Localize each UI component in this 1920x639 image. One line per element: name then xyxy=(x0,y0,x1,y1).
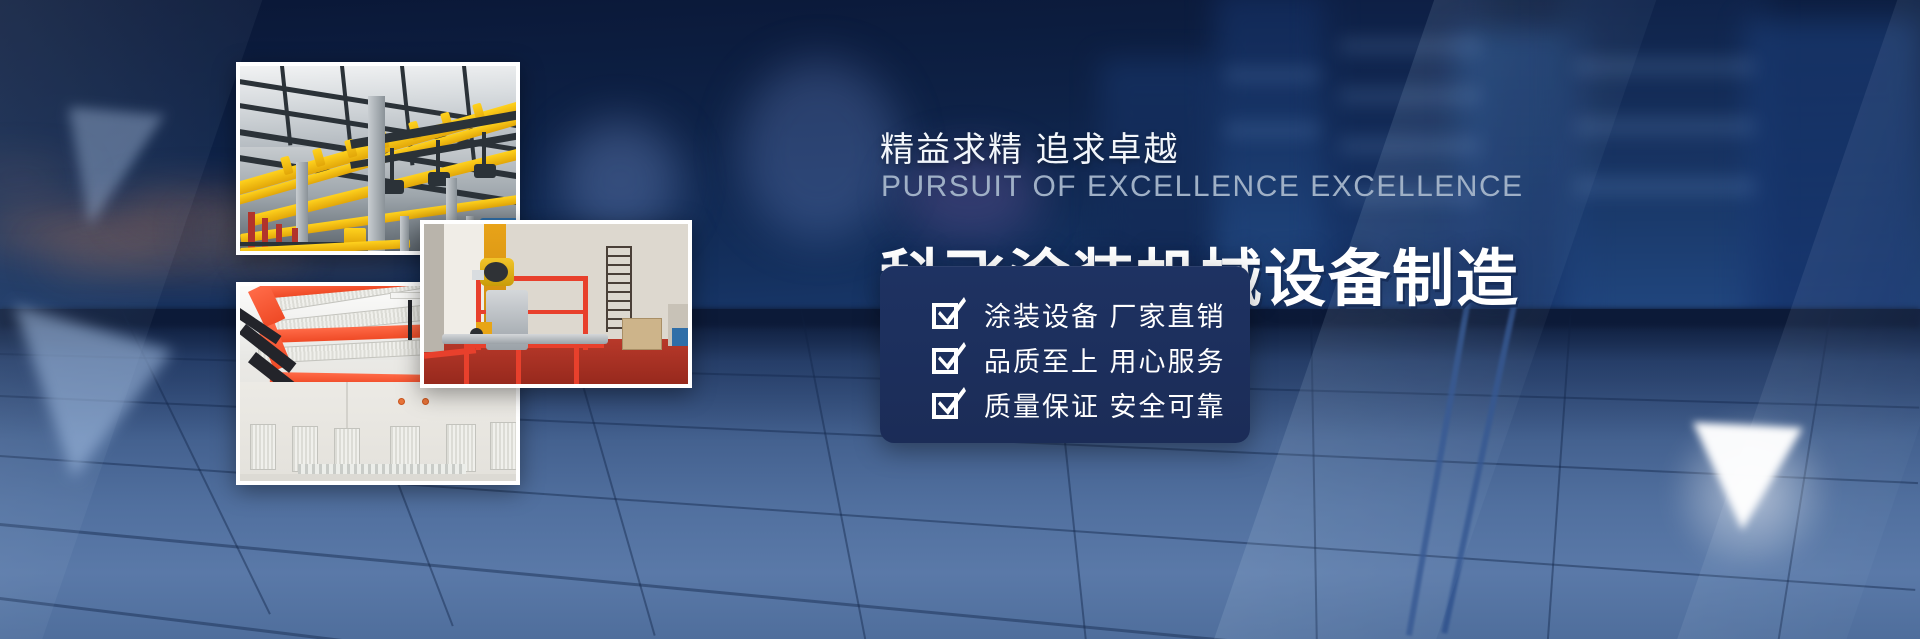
photo-lift-equipment xyxy=(420,220,692,388)
feature-item-2: 品质至上 用心服务 xyxy=(932,337,1226,382)
feature-item-3: 质量保证 安全可靠 xyxy=(932,382,1226,427)
feature-list-box: 涂装设备 厂家直销 品质至上 用心服务 xyxy=(880,266,1250,443)
tagline-chinese: 精益求精 追求卓越 xyxy=(880,122,1179,171)
checkbox-checked-icon xyxy=(932,344,964,376)
hero-banner: 精益求精 追求卓越 PURSUIT OF EXCELLENCE EXCELLEN… xyxy=(0,0,1920,639)
feature-label: 涂装设备 厂家直销 xyxy=(984,295,1226,334)
glow-triangle-lower-right xyxy=(1687,422,1802,533)
tagline-english: PURSUIT OF EXCELLENCE EXCELLENCE xyxy=(881,170,1524,204)
feature-item-1: 涂装设备 厂家直销 xyxy=(932,292,1226,337)
feature-label: 质量保证 安全可靠 xyxy=(984,385,1226,424)
checkbox-checked-icon xyxy=(932,299,964,331)
checkbox-checked-icon xyxy=(932,389,964,421)
feature-label: 品质至上 用心服务 xyxy=(984,340,1226,379)
feature-list: 涂装设备 厂家直销 品质至上 用心服务 xyxy=(932,292,1226,427)
banner-text-block: 精益求精 追求卓越 PURSUIT OF EXCELLENCE EXCELLEN… xyxy=(880,0,1520,639)
